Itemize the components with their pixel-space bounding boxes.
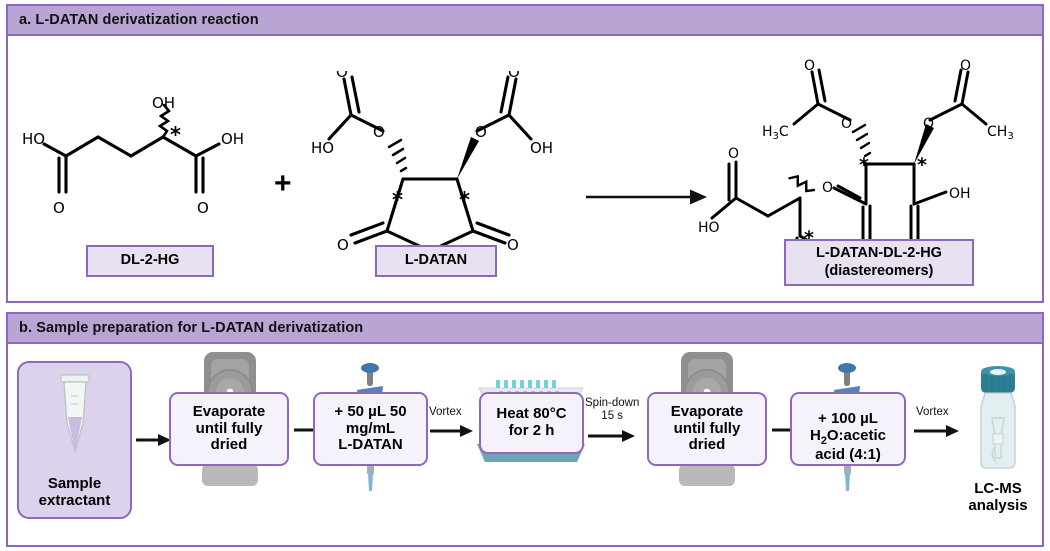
caption-box-l-datan: L-DATAN <box>375 245 497 277</box>
structure-l-datan: O O O O HO OH O O O * * <box>311 71 571 261</box>
atom-label-o-left: O <box>53 199 65 217</box>
workflow-arrow-label-vortex-2: Vortex <box>916 406 949 418</box>
l-datan-svg: O O O O HO OH O O O * * <box>311 71 571 256</box>
workflow-arrow-label-spindown: Spin-down 15 s <box>585 397 639 423</box>
hashed-wedge-left <box>853 125 870 156</box>
plus-operator: + <box>274 169 292 199</box>
workflow-step-add-ldatan[interactable]: + 50 µL 50 mg/mL L-DATAN <box>313 392 428 466</box>
panel-a-body: HO OH OH O O * DL-2-HG + <box>8 36 1042 301</box>
atom-label-ho-left: HO <box>698 220 720 236</box>
stereocenter-asterisk-left: * <box>392 188 403 212</box>
workflow-step-add-solvent[interactable]: + 100 µLH2O:aceticacid (4:1) <box>790 392 906 466</box>
panel-a: a. L-DATAN derivatization reaction <box>6 4 1044 303</box>
workflow-arrow-4 <box>588 428 636 449</box>
atom-label-oh-right: OH <box>221 130 244 148</box>
panel-a-header: a. L-DATAN derivatization reaction <box>8 6 1042 36</box>
atom-label-o-ester-left: O <box>373 123 385 141</box>
atom-label-o-linker: O <box>822 180 833 196</box>
caption-box-dl-2-hg: DL-2-HG <box>86 245 214 277</box>
stereocenter-asterisk-2: * <box>917 154 927 176</box>
stereocenter-asterisk: * <box>170 123 181 147</box>
structure-dl-2-hg: HO OH OH O O * <box>22 88 272 243</box>
caption-box-product: L-DATAN-DL-2-HG (diastereomers) <box>784 239 974 286</box>
workflow-step-heat[interactable]: Heat 80°C for 2 h <box>479 392 584 454</box>
caption-product-line1: L-DATAN-DL-2-HG <box>816 245 942 262</box>
atom-label-o-tl: O <box>336 71 348 81</box>
atom-label-oh-right: OH <box>949 186 971 202</box>
panel-a-title: a. L-DATAN derivatization reaction <box>19 12 259 28</box>
sample-extractant-label: Sample extractant <box>39 475 111 509</box>
lcms-analysis-label: LC-MS analysis <box>950 480 1046 514</box>
panel-b-body: Sample extractant <box>8 344 1042 545</box>
caption-product-line2: (diastereomers) <box>825 263 934 280</box>
panel-b-header: b. Sample preparation for L-DATAN deriva… <box>8 314 1042 344</box>
atom-label-h3c: H3C <box>762 124 789 142</box>
atom-label-oh: OH <box>530 139 553 157</box>
evaporate-1-label: Evaporate until fully dried <box>193 404 266 455</box>
heat-label: Heat 80°C for 2 h <box>496 406 566 440</box>
product-svg: O O O O H3C CH3 O O O OH O HO OH O <box>698 46 1028 266</box>
caption-l-datan: L-DATAN <box>405 252 467 269</box>
atom-label-oh-top: OH <box>152 94 175 112</box>
figure-root: a. L-DATAN derivatization reaction <box>0 0 1050 551</box>
stereocenter-asterisk-1: * <box>859 154 869 176</box>
atom-label-ch3: CH3 <box>987 124 1014 142</box>
workflow-arrow-1 <box>136 432 172 453</box>
workflow-arrow-6 <box>914 423 960 444</box>
atom-label-o-ring-left: O <box>337 236 349 254</box>
atom-label-o-ring-right: O <box>507 236 519 254</box>
panel-b: b. Sample preparation for L-DATAN deriva… <box>6 312 1044 547</box>
dl-2-hg-svg: HO OH OH O O * <box>22 88 272 238</box>
lcms-vial-icon <box>965 366 1031 481</box>
add-ldatan-label: + 50 µL 50 mg/mL L-DATAN <box>334 404 406 455</box>
workflow-arrow-label-vortex-1: Vortex <box>429 406 462 418</box>
add-solvent-label: + 100 µLH2O:aceticacid (4:1) <box>810 394 886 464</box>
evaporate-2-label: Evaporate until fully dried <box>671 404 744 455</box>
hashed-wedge-left <box>389 140 406 171</box>
atom-label-o-ester-left: O <box>841 116 852 132</box>
atom-label-ho: HO <box>311 139 334 157</box>
eppendorf-tube-icon <box>52 371 98 468</box>
atom-label-o-ester-right: O <box>923 116 934 132</box>
atom-label-o-acetyl-left: O <box>804 58 815 74</box>
atom-label-ho: HO <box>22 130 45 148</box>
caption-dl-2-hg: DL-2-HG <box>121 252 180 269</box>
panel-b-title: b. Sample preparation for L-DATAN deriva… <box>19 320 363 336</box>
workflow-arrow-3 <box>430 423 474 444</box>
reaction-arrow <box>586 186 708 213</box>
stereocenter-asterisk-right: * <box>459 188 470 212</box>
workflow-step-evaporate-2[interactable]: Evaporate until fully dried <box>647 392 767 466</box>
workflow-step-evaporate-1[interactable]: Evaporate until fully dried <box>169 392 289 466</box>
structure-product: O O O O H3C CH3 O O O OH O HO OH O <box>698 46 1028 271</box>
atom-label-o-tr: O <box>508 71 520 81</box>
atom-label-o-acetyl-right: O <box>960 58 971 74</box>
atom-label-o-right: O <box>197 199 209 217</box>
atom-label-o-ester-right: O <box>475 123 487 141</box>
atom-label-o-left: O <box>728 146 739 162</box>
